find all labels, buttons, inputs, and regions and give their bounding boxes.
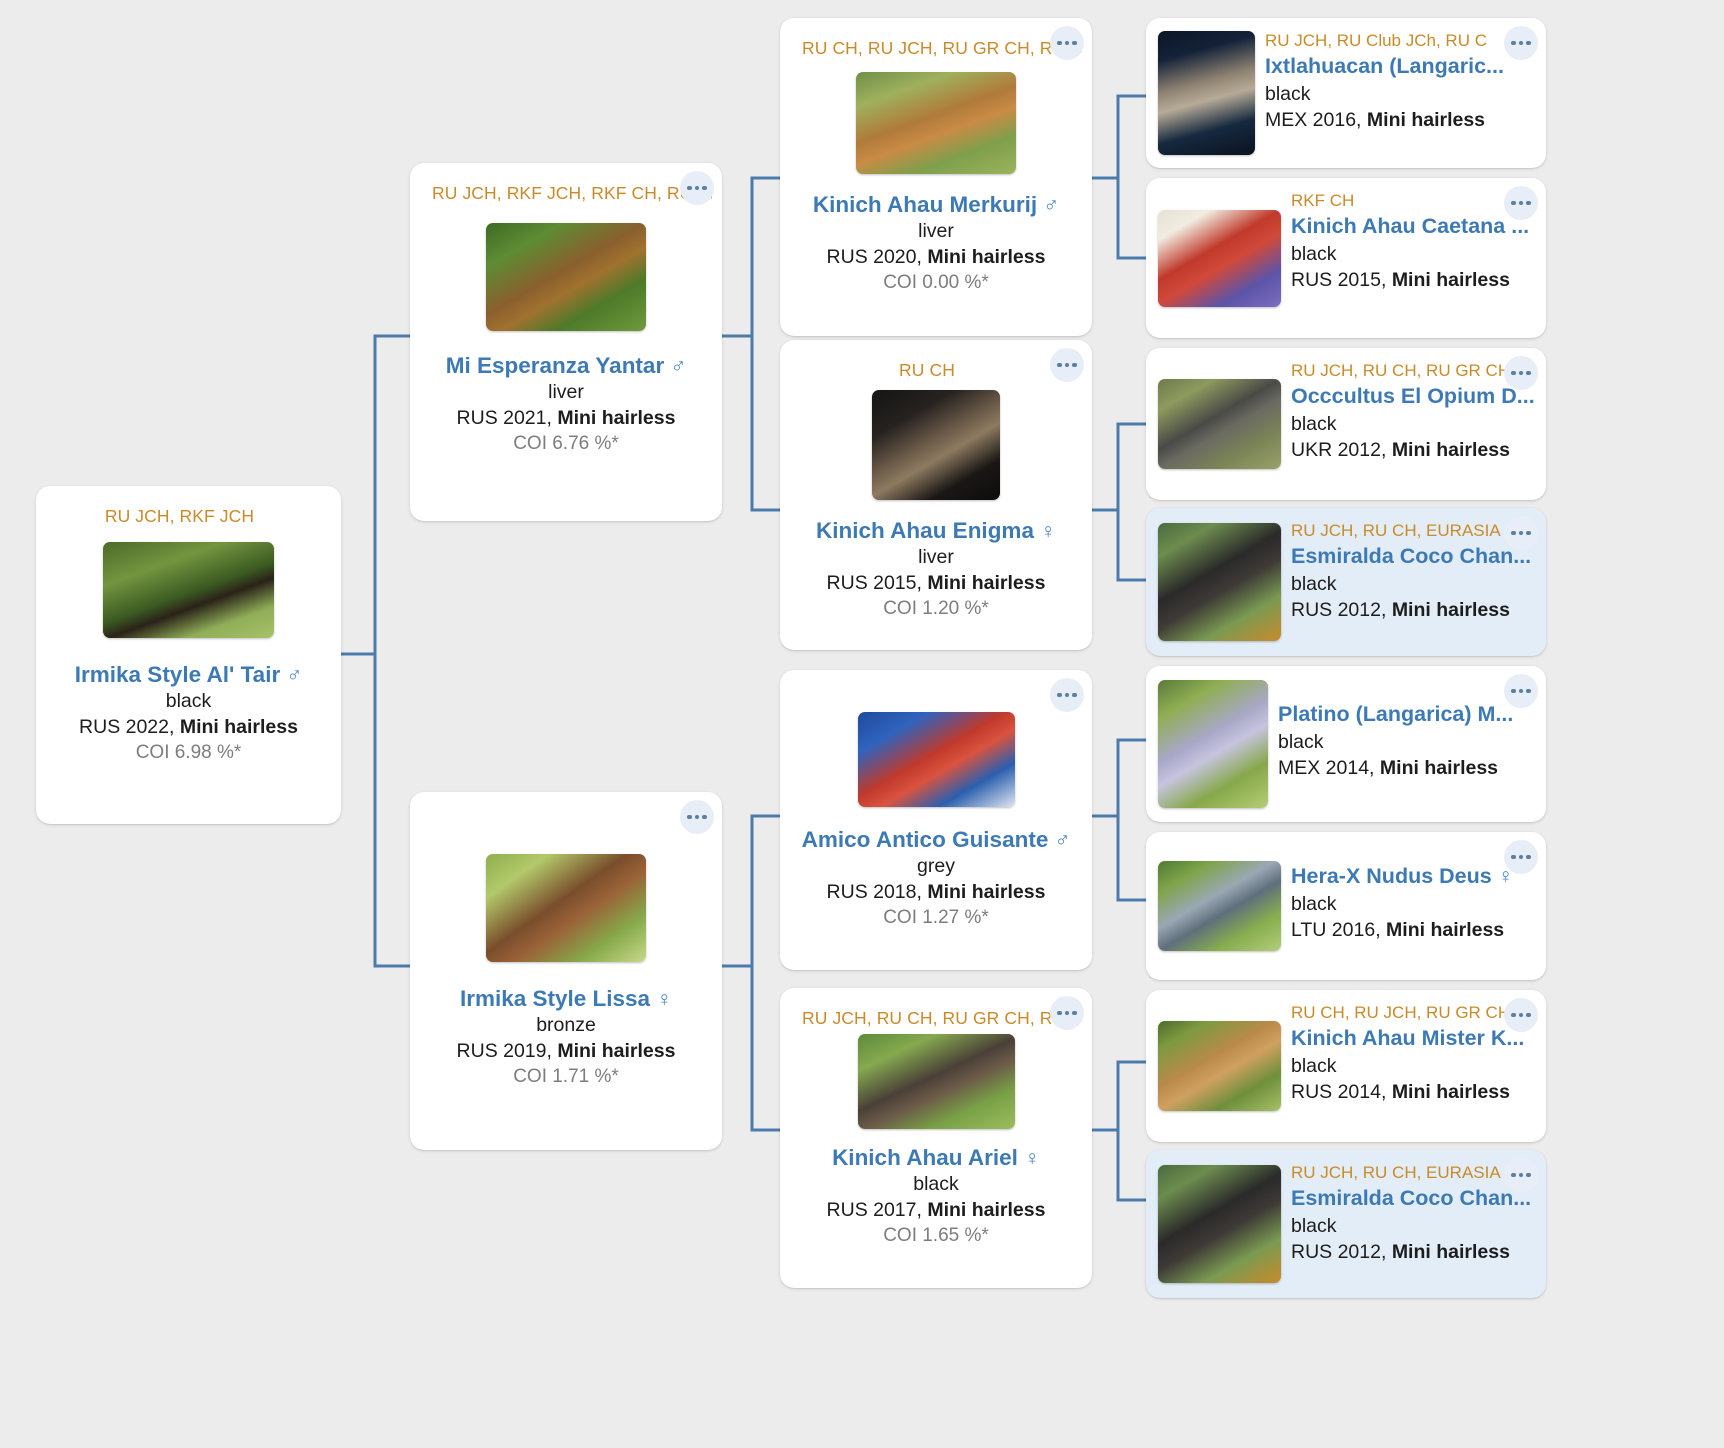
dog-card-esmiralda-bottom[interactable]: RU JCH, RU CH, EURASIA ( Esmiralda Coco … bbox=[1146, 1150, 1546, 1298]
dog-coi: COI 6.76 %* bbox=[513, 431, 619, 456]
dog-photo[interactable] bbox=[1158, 861, 1281, 951]
dog-photo[interactable] bbox=[486, 223, 646, 331]
dog-origin: RUS 2022, bbox=[79, 716, 174, 738]
dog-origin: RUS 2018, bbox=[827, 881, 922, 903]
dog-titles: RU JCH, RKF JCH bbox=[46, 498, 331, 526]
dog-name[interactable]: Mi Esperanza Yantar ♂ bbox=[446, 353, 686, 379]
dog-origin: RUS 2019, bbox=[457, 1040, 552, 1062]
dog-breed: Mini hairless bbox=[927, 572, 1045, 594]
sex-female-icon: ♀ bbox=[1040, 520, 1056, 543]
dog-card-ixtlahuacan[interactable]: RU JCH, RU Club JCh, RU C Ixtlahuacan (L… bbox=[1146, 18, 1546, 168]
dog-titles bbox=[790, 682, 1082, 710]
more-options-icon[interactable] bbox=[1504, 674, 1538, 708]
dog-origin-breed: LTU 2016, Mini hairless bbox=[1291, 917, 1534, 943]
dog-card-altair[interactable]: RU JCH, RKF JCH Irmika Style Al' Tair ♂ … bbox=[36, 486, 341, 824]
dog-coi: COI 0.00 %* bbox=[883, 270, 989, 295]
dog-name[interactable]: Kinich Ahau Enigma ♀ bbox=[816, 518, 1056, 544]
dog-photo[interactable] bbox=[858, 712, 1015, 807]
dog-titles: RU JCH, RU CH, RU GR CH, bbox=[1291, 360, 1534, 382]
dog-titles: RU CH bbox=[790, 352, 1082, 380]
dog-origin-breed: RUS 2012, Mini hairless bbox=[1291, 1239, 1534, 1265]
dog-titles: RU CH, RU JCH, RU GR CH, bbox=[1291, 1002, 1534, 1024]
dog-card-yantar[interactable]: RU JCH, RKF JCH, RKF CH, RU CH, Mi Esper… bbox=[410, 163, 722, 521]
more-options-icon[interactable] bbox=[680, 800, 714, 834]
dog-card-ariel[interactable]: RU JCH, RU CH, RU GR CH, RKF C Kinich Ah… bbox=[780, 988, 1092, 1288]
pedigree-chart: RU JCH, RKF JCH Irmika Style Al' Tair ♂ … bbox=[0, 0, 1724, 1448]
dog-origin: RUS 2014, bbox=[1291, 1081, 1386, 1103]
dog-photo[interactable] bbox=[1158, 523, 1281, 641]
more-options-icon[interactable] bbox=[1050, 678, 1084, 712]
dog-color: black bbox=[166, 689, 212, 714]
dog-origin-breed: RUS 2021, Mini hairless bbox=[457, 406, 676, 431]
dog-name[interactable]: Occcultus El Opium D... bbox=[1291, 382, 1534, 411]
dog-name[interactable]: Ixtlahuacan (Langaric... bbox=[1265, 52, 1534, 81]
dog-card-lissa[interactable]: Irmika Style Lissa ♀ bronze RUS 2019, Mi… bbox=[410, 792, 722, 1150]
dog-color: liver bbox=[918, 545, 954, 570]
dog-photo[interactable] bbox=[858, 1034, 1015, 1129]
dog-color: black bbox=[1291, 241, 1534, 267]
dog-origin-breed: MEX 2014, Mini hairless bbox=[1278, 755, 1534, 781]
dog-photo[interactable] bbox=[1158, 210, 1281, 307]
dog-name[interactable]: Esmiralda Coco Chan... bbox=[1291, 1184, 1534, 1213]
dog-origin: RUS 2015, bbox=[1291, 269, 1386, 291]
dog-photo[interactable] bbox=[1158, 31, 1255, 155]
dog-color: grey bbox=[917, 854, 955, 879]
dog-origin-breed: RUS 2015, Mini hairless bbox=[1291, 267, 1534, 293]
dog-card-merkurij[interactable]: RU CH, RU JCH, RU GR CH, RU C Kinich Aha… bbox=[780, 18, 1092, 336]
dog-color: black bbox=[1291, 1213, 1534, 1239]
dog-origin: RUS 2012, bbox=[1291, 599, 1386, 621]
dog-origin: RUS 2020, bbox=[827, 246, 922, 268]
dog-origin: RUS 2015, bbox=[827, 572, 922, 594]
dog-color: black bbox=[1291, 891, 1534, 917]
dog-name-text: Kinich Ahau Merkurij bbox=[813, 192, 1037, 217]
sex-male-icon: ♂ bbox=[670, 355, 686, 378]
dog-titles: RKF CH bbox=[1291, 190, 1534, 212]
dog-origin-breed: RUS 2022, Mini hairless bbox=[79, 715, 298, 740]
dog-coi: COI 1.27 %* bbox=[883, 905, 989, 930]
dog-name[interactable]: Kinich Ahau Ariel ♀ bbox=[832, 1145, 1040, 1171]
dog-breed: Mini hairless bbox=[1392, 1081, 1510, 1103]
dog-origin-breed: RUS 2019, Mini hairless bbox=[457, 1039, 676, 1064]
dog-origin-breed: MEX 2016, Mini hairless bbox=[1265, 107, 1534, 133]
dog-origin: RUS 2021, bbox=[457, 407, 552, 429]
dog-name-text: Irmika Style Al' Tair bbox=[75, 662, 280, 687]
more-options-icon[interactable] bbox=[1504, 840, 1538, 874]
dog-color: black bbox=[913, 1172, 959, 1197]
dog-name-text: Kinich Ahau Ariel bbox=[832, 1145, 1018, 1170]
dog-titles: RU JCH, RU CH, EURASIA ( bbox=[1291, 520, 1534, 542]
dog-origin: MEX 2014, bbox=[1278, 757, 1374, 779]
dog-breed: Mini hairless bbox=[1392, 599, 1510, 621]
dog-card-caetana[interactable]: RKF CH Kinich Ahau Caetana ... black RUS… bbox=[1146, 178, 1546, 338]
more-options-icon[interactable] bbox=[1050, 996, 1084, 1030]
dog-titles: RU JCH, RKF JCH, RKF CH, RU CH, bbox=[420, 175, 712, 203]
dog-origin-breed: UKR 2012, Mini hairless bbox=[1291, 437, 1534, 463]
sex-female-icon: ♀ bbox=[656, 988, 672, 1011]
dog-card-enigma[interactable]: RU CH Kinich Ahau Enigma ♀ liver RUS 201… bbox=[780, 340, 1092, 650]
dog-color: black bbox=[1278, 729, 1534, 755]
dog-card-occcultus[interactable]: RU JCH, RU CH, RU GR CH, Occcultus El Op… bbox=[1146, 348, 1546, 500]
more-options-icon[interactable] bbox=[1504, 998, 1538, 1032]
dog-titles: RU JCH, RU Club JCh, RU C bbox=[1265, 30, 1534, 52]
more-options-icon[interactable] bbox=[1504, 1158, 1538, 1192]
dog-breed: Mini hairless bbox=[557, 407, 675, 429]
dog-breed: Mini hairless bbox=[927, 881, 1045, 903]
dog-origin-breed: RUS 2017, Mini hairless bbox=[827, 1198, 1046, 1223]
dog-photo[interactable] bbox=[872, 390, 1000, 500]
dog-breed: Mini hairless bbox=[1380, 757, 1498, 779]
dog-breed: Mini hairless bbox=[927, 1199, 1045, 1221]
dog-origin-breed: RUS 2018, Mini hairless bbox=[827, 880, 1046, 905]
sex-male-icon: ♂ bbox=[1055, 829, 1071, 852]
dog-name[interactable]: Amico Antico Guisante ♂ bbox=[802, 827, 1071, 853]
more-options-icon[interactable] bbox=[680, 171, 714, 205]
more-options-icon[interactable] bbox=[1504, 356, 1538, 390]
dog-titles: RU CH, RU JCH, RU GR CH, RU C bbox=[790, 30, 1082, 58]
dog-name[interactable]: Esmiralda Coco Chan... bbox=[1291, 542, 1534, 571]
dog-breed: Mini hairless bbox=[180, 716, 298, 738]
sex-male-icon: ♂ bbox=[286, 664, 302, 687]
dog-color: black bbox=[1265, 81, 1534, 107]
dog-card-esmiralda-top[interactable]: RU JCH, RU CH, EURASIA ( Esmiralda Coco … bbox=[1146, 508, 1546, 656]
dog-name-text: Kinich Ahau Enigma bbox=[816, 518, 1034, 543]
dog-color: liver bbox=[918, 219, 954, 244]
dog-name-text: Hera-X Nudus Deus bbox=[1291, 864, 1492, 888]
dog-breed: Mini hairless bbox=[1392, 1241, 1510, 1263]
dog-origin-breed: RUS 2014, Mini hairless bbox=[1291, 1079, 1534, 1105]
dog-name[interactable]: Kinich Ahau Mister K... bbox=[1291, 1024, 1534, 1053]
dog-color: bronze bbox=[536, 1013, 596, 1038]
dog-card-amico[interactable]: Amico Antico Guisante ♂ grey RUS 2018, M… bbox=[780, 670, 1092, 970]
dog-origin: RUS 2017, bbox=[827, 1199, 922, 1221]
dog-card-platino[interactable]: Platino (Langarica) M... black MEX 2014,… bbox=[1146, 666, 1546, 822]
dog-origin-breed: RUS 2015, Mini hairless bbox=[827, 571, 1046, 596]
more-options-icon[interactable] bbox=[1504, 186, 1538, 220]
dog-name-text: Irmika Style Lissa bbox=[460, 986, 650, 1011]
dog-coi: COI 1.65 %* bbox=[883, 1223, 989, 1248]
dog-origin-breed: RUS 2020, Mini hairless bbox=[827, 245, 1046, 270]
dog-photo[interactable] bbox=[1158, 680, 1268, 808]
dog-card-hera[interactable]: Hera-X Nudus Deus ♀ black LTU 2016, Mini… bbox=[1146, 832, 1546, 980]
dog-photo[interactable] bbox=[1158, 1165, 1281, 1283]
dog-color: black bbox=[1291, 1053, 1534, 1079]
dog-color: liver bbox=[548, 380, 584, 405]
dog-name[interactable]: Kinich Ahau Merkurij ♂ bbox=[813, 192, 1059, 218]
sex-female-icon: ♀ bbox=[1024, 1147, 1040, 1170]
more-options-icon[interactable] bbox=[1050, 26, 1084, 60]
dog-photo[interactable] bbox=[486, 854, 646, 962]
dog-coi: COI 1.20 %* bbox=[883, 596, 989, 621]
dog-photo[interactable] bbox=[1158, 1021, 1281, 1111]
dog-photo[interactable] bbox=[856, 72, 1016, 174]
dog-breed: Mini hairless bbox=[1367, 109, 1485, 131]
dog-name[interactable]: Irmika Style Lissa ♀ bbox=[460, 986, 672, 1012]
dog-breed: Mini hairless bbox=[1392, 439, 1510, 461]
dog-card-mister[interactable]: RU CH, RU JCH, RU GR CH, Kinich Ahau Mis… bbox=[1146, 990, 1546, 1142]
dog-breed: Mini hairless bbox=[557, 1040, 675, 1062]
dog-coi: COI 6.98 %* bbox=[136, 740, 242, 765]
dog-photo[interactable] bbox=[103, 542, 274, 638]
dog-origin: UKR 2012, bbox=[1291, 439, 1386, 461]
dog-photo[interactable] bbox=[1158, 379, 1281, 469]
dog-titles: RU JCH, RU CH, RU GR CH, RKF C bbox=[790, 1000, 1082, 1028]
dog-color: black bbox=[1291, 571, 1534, 597]
dog-name-text: Amico Antico Guisante bbox=[802, 827, 1049, 852]
dog-name[interactable]: Irmika Style Al' Tair ♂ bbox=[75, 662, 302, 688]
dog-name[interactable]: Platino (Langarica) M... bbox=[1278, 700, 1534, 729]
more-options-icon[interactable] bbox=[1504, 516, 1538, 550]
dog-name[interactable]: Kinich Ahau Caetana ... bbox=[1291, 212, 1534, 241]
more-options-icon[interactable] bbox=[1504, 26, 1538, 60]
more-options-icon[interactable] bbox=[1050, 348, 1084, 382]
dog-breed: Mini hairless bbox=[927, 246, 1045, 268]
dog-name-text: Mi Esperanza Yantar bbox=[446, 353, 664, 378]
dog-titles: RU JCH, RU CH, EURASIA ( bbox=[1291, 1162, 1534, 1184]
dog-breed: Mini hairless bbox=[1386, 919, 1504, 941]
dog-origin: LTU 2016, bbox=[1291, 919, 1381, 941]
dog-origin: MEX 2016, bbox=[1265, 109, 1361, 131]
dog-origin-breed: RUS 2012, Mini hairless bbox=[1291, 597, 1534, 623]
dog-origin: RUS 2012, bbox=[1291, 1241, 1386, 1263]
dog-name[interactable]: Hera-X Nudus Deus ♀ bbox=[1291, 862, 1534, 891]
dog-coi: COI 1.71 %* bbox=[513, 1064, 619, 1089]
dog-titles bbox=[420, 804, 712, 832]
sex-male-icon: ♂ bbox=[1043, 194, 1059, 217]
dog-breed: Mini hairless bbox=[1392, 269, 1510, 291]
dog-color: black bbox=[1291, 411, 1534, 437]
